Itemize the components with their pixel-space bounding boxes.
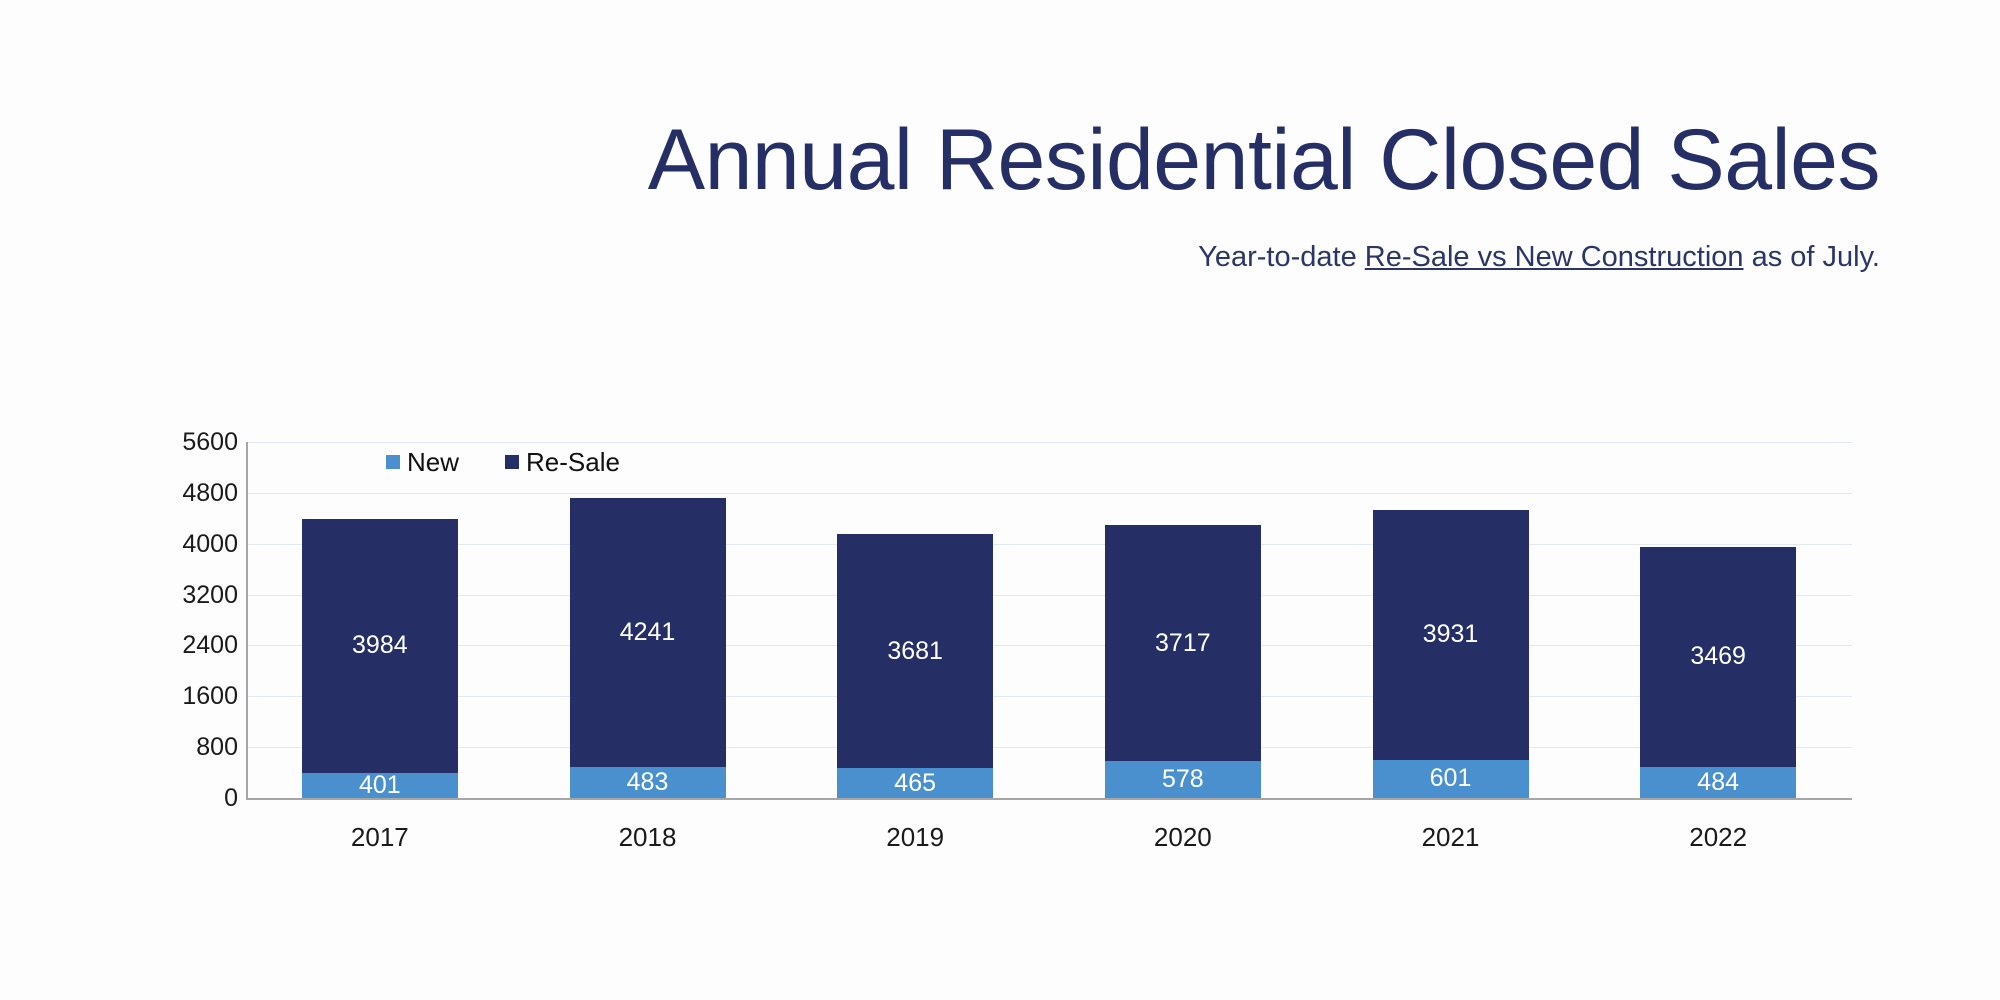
- x-axis-tick-2021: 2021: [1361, 820, 1541, 854]
- x-axis-tick-2019: 2019: [825, 820, 1005, 854]
- bar-value-label-new: 601: [1430, 764, 1472, 793]
- y-axis-tick: 2400: [130, 633, 238, 658]
- x-axis-tick-2017: 2017: [290, 820, 470, 854]
- x-axis-tick-2018: 2018: [558, 820, 738, 854]
- y-axis-tick: 4800: [130, 481, 238, 506]
- bar-group-2020[interactable]: 5783717: [1105, 442, 1261, 798]
- legend-label: Re-Sale: [526, 448, 620, 476]
- bar-segment-resale[interactable]: 4241: [570, 498, 726, 768]
- bar-value-label-resale: 3984: [352, 631, 408, 660]
- y-axis-line: [246, 442, 248, 799]
- legend-item-new[interactable]: New: [386, 448, 459, 476]
- gridline: [246, 544, 1852, 545]
- bar-value-label-resale: 3681: [887, 637, 943, 666]
- bar-segment-new[interactable]: 578: [1105, 761, 1261, 798]
- bar-value-label-new: 483: [627, 768, 669, 797]
- y-axis-tick-labels: 0800160024003200400048005600: [130, 425, 238, 815]
- plot-area: 4013984483424146536815783717601393148434…: [246, 442, 1852, 798]
- gridline: [246, 645, 1852, 646]
- gridline: [246, 595, 1852, 596]
- bar-segment-new[interactable]: 484: [1640, 767, 1796, 798]
- bar-group-2019[interactable]: 4653681: [837, 442, 993, 798]
- bar-segment-new[interactable]: 465: [837, 768, 993, 798]
- x-axis-tick-labels: 201720182019202020212022: [246, 820, 1852, 864]
- gridline: [246, 493, 1852, 494]
- x-axis-tick-2020: 2020: [1093, 820, 1273, 854]
- bar-value-label-new: 484: [1697, 768, 1739, 797]
- y-axis-tick: 0: [130, 786, 238, 811]
- bar-segment-resale[interactable]: 3681: [837, 534, 993, 768]
- bar-value-label-resale: 4241: [620, 618, 676, 647]
- legend-label: New: [407, 448, 459, 476]
- gridline: [246, 442, 1852, 443]
- stacked-bar-chart: 0800160024003200400048005600 40139844834…: [0, 0, 2000, 1000]
- bar-value-label-resale: 3931: [1423, 620, 1479, 649]
- bar-segment-new[interactable]: 601: [1373, 760, 1529, 798]
- y-axis-tick: 5600: [130, 430, 238, 455]
- bar-value-label-resale: 3717: [1155, 629, 1211, 658]
- bar-segment-new[interactable]: 483: [570, 767, 726, 798]
- y-axis-tick: 4000: [130, 532, 238, 557]
- bar-group-2017[interactable]: 4013984: [302, 442, 458, 798]
- bar-value-label-new: 401: [359, 773, 401, 798]
- bar-value-label-resale: 3469: [1690, 642, 1746, 671]
- gridline: [246, 747, 1852, 748]
- bar-segment-new[interactable]: 401: [302, 773, 458, 798]
- bar-group-2022[interactable]: 4843469: [1640, 442, 1796, 798]
- x-axis-tick-2022: 2022: [1628, 820, 1808, 854]
- y-axis-tick: 800: [130, 735, 238, 760]
- x-axis-line: [246, 798, 1852, 800]
- chart-legend: NewRe-Sale: [386, 448, 620, 476]
- bar-segment-resale[interactable]: 3469: [1640, 547, 1796, 768]
- bar-value-label-new: 465: [894, 769, 936, 798]
- y-axis-tick: 1600: [130, 684, 238, 709]
- bar-segment-resale[interactable]: 3984: [302, 519, 458, 772]
- bar-segment-resale[interactable]: 3717: [1105, 525, 1261, 761]
- bar-value-label-new: 578: [1162, 765, 1204, 794]
- bar-group-2021[interactable]: 6013931: [1373, 442, 1529, 798]
- gridline: [246, 696, 1852, 697]
- legend-swatch-icon: [505, 455, 519, 469]
- y-axis-tick: 3200: [130, 583, 238, 608]
- bar-group-2018[interactable]: 4834241: [570, 442, 726, 798]
- bar-segment-resale[interactable]: 3931: [1373, 510, 1529, 760]
- legend-swatch-icon: [386, 455, 400, 469]
- legend-item-re-sale[interactable]: Re-Sale: [505, 448, 620, 476]
